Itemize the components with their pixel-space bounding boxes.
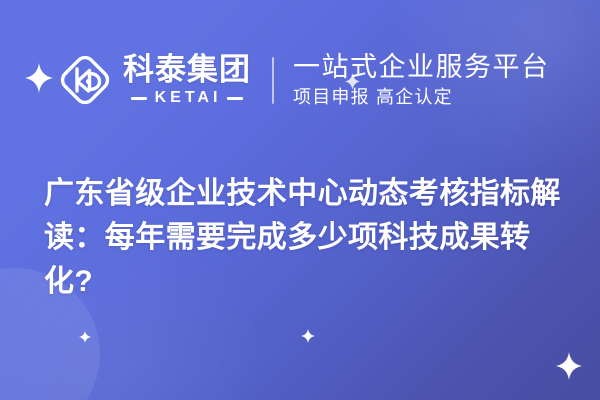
tagline-sub: 项目申报 高企认定 [293,87,550,109]
brand-rule-right-icon [227,97,243,100]
brand-name-en: KETAI [153,90,222,106]
brand-lockup[interactable]: 科泰集团 KETAI [58,53,251,107]
ketai-diamond-monogram-icon [58,53,112,107]
brand-name-cn: 科泰集团 [123,54,251,85]
banner-header: 科泰集团 KETAI 一站式企业服务平台 项目申报 高企认定 [0,40,600,120]
tagline-main: 一站式企业服务平台 [293,52,550,82]
tagline-block: 一站式企业服务平台 项目申报 高企认定 [293,52,550,109]
brand-rule-left-icon [131,97,147,100]
sparkle-dot-icon-left [79,331,91,343]
promo-banner: 科泰集团 KETAI 一站式企业服务平台 项目申报 高企认定 广东省级企业技术中… [0,0,600,400]
page-title: 广东省级企业技术中心动态考核指标解读：每年需要完成多少项科技成果转化? [44,172,570,304]
brand-name-en-row: KETAI [131,90,244,106]
header-divider [272,57,274,104]
brand-wordmark: 科泰集团 KETAI [123,54,251,106]
sparkle-dot-icon-center [301,329,315,343]
sparkle-icon-bottom-right [556,352,582,380]
